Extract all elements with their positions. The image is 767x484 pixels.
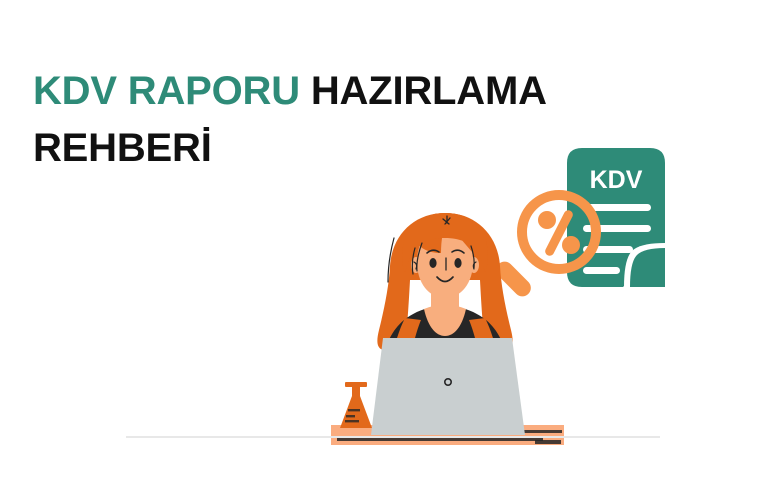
- conical-flask-icon: [340, 382, 372, 428]
- laptop: [371, 338, 525, 435]
- percent-circle-bottom: [562, 236, 580, 254]
- poster-canvas: KDV RAPORU HAZIRLAMA REHBERİ KDV: [0, 0, 767, 484]
- percent-circle-top: [538, 211, 556, 229]
- document-label: KDV: [590, 166, 643, 194]
- document-line-4: [583, 267, 620, 274]
- desk-line-1: [337, 438, 543, 441]
- floor-line: [126, 436, 660, 438]
- desk-line-4: [535, 440, 561, 444]
- flask-mark-2: [346, 415, 355, 417]
- eye-right: [454, 258, 461, 268]
- laptop-lid: [371, 338, 525, 435]
- eye-left: [429, 258, 436, 268]
- hero-illustration: KDV: [0, 0, 767, 484]
- flask-mark-3: [345, 420, 359, 422]
- flask-body: [340, 396, 372, 428]
- flask-mark-1: [348, 409, 360, 411]
